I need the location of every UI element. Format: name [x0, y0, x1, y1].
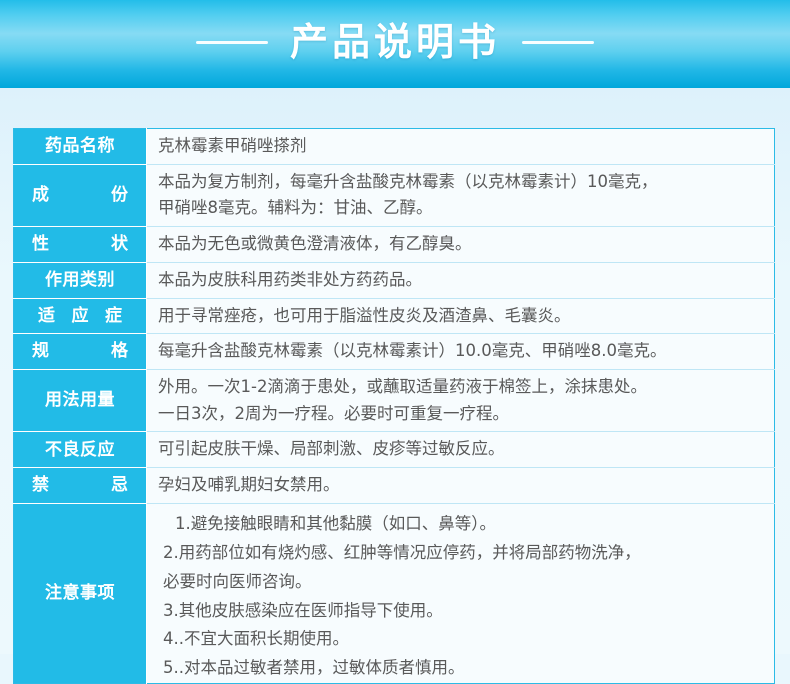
row-label-appearance: 性 状 — [14, 227, 147, 263]
table-row: 性 状 本品为无色或微黄色澄清液体，有乙醇臭。 — [14, 227, 775, 263]
table-row: 药品名称 克林霉素甲硝唑搽剂 — [14, 129, 775, 165]
row-content-drug-category: 本品为皮肤科用药类非处方药药品。 — [147, 262, 775, 298]
label-char: 禁 — [32, 473, 49, 498]
content-line: 本品为无色或微黄色澄清液体，有乙醇臭。 — [158, 231, 766, 258]
row-content-precautions: 1.避免接触眼睛和其他黏膜（如口、鼻等）。 2.用药部位如有烧灼感、红肿等情况应… — [147, 503, 775, 683]
row-label-drug-name: 药品名称 — [14, 129, 147, 165]
row-label-contraindications: 禁 忌 — [14, 468, 147, 504]
row-content-indications: 用于寻常痤疮，也可用于脂溢性皮炎及酒渣鼻、毛囊炎。 — [147, 298, 775, 334]
table-row: 成 份 本品为复方制剂，每毫升含盐酸克林霉素（以克林霉素计）10毫克， 甲硝唑8… — [14, 164, 775, 226]
label-char: 份 — [111, 183, 128, 208]
list-item: 1.避免接触眼睛和其他黏膜（如口、鼻等）。 — [163, 510, 766, 539]
row-content-specification: 每毫升含盐酸克林霉素（以克林霉素计）10.0毫克、甲硝唑8.0毫克。 — [147, 334, 775, 370]
table-row: 禁 忌 孕妇及哺乳期妇女禁用。 — [14, 468, 775, 504]
label-spread: 适 应 症 — [22, 304, 138, 329]
content-line: 本品为复方制剂，每毫升含盐酸克林霉素（以克林霉素计）10毫克， — [158, 169, 766, 196]
content-line: 本品为皮肤科用药类非处方药药品。 — [158, 267, 766, 294]
label-char: 性 — [32, 232, 49, 257]
table-row: 适 应 症 用于寻常痤疮，也可用于脂溢性皮炎及酒渣鼻、毛囊炎。 — [14, 298, 775, 334]
row-label-dosage: 用法用量 — [14, 370, 147, 432]
page-title: 产品说明书 — [290, 23, 500, 61]
content-line: 每毫升含盐酸克林霉素（以克林霉素计）10.0毫克、甲硝唑8.0毫克。 — [158, 338, 766, 365]
table-row: 规 格 每毫升含盐酸克林霉素（以克林霉素计）10.0毫克、甲硝唑8.0毫克。 — [14, 334, 775, 370]
label-char: 忌 — [111, 473, 128, 498]
spec-table-body: 药品名称 克林霉素甲硝唑搽剂 成 份 本品为复方制剂，每毫升含盐酸克林霉素（以克… — [14, 129, 775, 684]
row-content-drug-name: 克林霉素甲硝唑搽剂 — [147, 129, 775, 165]
label-char: 格 — [111, 339, 128, 364]
content-line: 外用。一次1-2滴滴于患处，或蘸取适量药液于棉签上，涂抹患处。 — [158, 374, 766, 401]
row-content-dosage: 外用。一次1-2滴滴于患处，或蘸取适量药液于棉签上，涂抹患处。 一日3次，2周为… — [147, 370, 775, 432]
row-label-specification: 规 格 — [14, 334, 147, 370]
label-char: 适 — [38, 304, 55, 329]
content-line: 孕妇及哺乳期妇女禁用。 — [158, 472, 766, 499]
table-row: 作用类别 本品为皮肤科用药类非处方药药品。 — [14, 262, 775, 298]
list-item: 5..对本品过敏者禁用，过敏体质者慎用。 — [163, 654, 766, 683]
row-content-ingredients: 本品为复方制剂，每毫升含盐酸克林霉素（以克林霉素计）10毫克， 甲硝唑8毫克。辅… — [147, 164, 775, 226]
table-row: 不良反应 可引起皮肤干燥、局部刺激、皮疹等过敏反应。 — [14, 432, 775, 468]
table-row-precautions: 注意事项 1.避免接触眼睛和其他黏膜（如口、鼻等）。 2.用药部位如有烧灼感、红… — [14, 503, 775, 683]
label-char: 成 — [32, 183, 49, 208]
label-char: 应 — [72, 304, 89, 329]
label-char: 状 — [111, 232, 128, 257]
precautions-label-text: 注意事项 — [22, 581, 138, 606]
content-line: 克林霉素甲硝唑搽剂 — [158, 133, 766, 160]
page-header-banner: 产品说明书 — [0, 0, 790, 88]
content-line: 用于寻常痤疮，也可用于脂溢性皮炎及酒渣鼻、毛囊炎。 — [158, 303, 766, 330]
row-label-indications: 适 应 症 — [14, 298, 147, 334]
label-spread: 性 状 — [22, 232, 138, 257]
row-content-contraindications: 孕妇及哺乳期妇女禁用。 — [147, 468, 775, 504]
row-label-ingredients: 成 份 — [14, 164, 147, 226]
list-item: 2.用药部位如有烧灼感、红肿等情况应停药，并将局部药物洗净， — [163, 539, 766, 568]
label-spread: 禁 忌 — [22, 473, 138, 498]
row-label-adverse-reactions: 不良反应 — [14, 432, 147, 468]
list-item: 3.其他皮肤感染应在医师指导下使用。 — [163, 597, 766, 626]
banner-title-group: 产品说明书 — [196, 23, 594, 61]
row-content-adverse-reactions: 可引起皮肤干燥、局部刺激、皮疹等过敏反应。 — [147, 432, 775, 468]
label-spread: 成 份 — [22, 183, 138, 208]
list-item: 4..不宜大面积长期使用。 — [163, 625, 766, 654]
content-line: 甲硝唑8毫克。辅料为：甘油、乙醇。 — [158, 195, 766, 222]
label-char: 症 — [105, 304, 122, 329]
table-row: 用法用量 外用。一次1-2滴滴于患处，或蘸取适量药液于棉签上，涂抹患处。 一日3… — [14, 370, 775, 432]
list-item: 必要时向医师咨询。 — [163, 568, 766, 597]
product-spec-table: 药品名称 克林霉素甲硝唑搽剂 成 份 本品为复方制剂，每毫升含盐酸克林霉素（以克… — [13, 128, 775, 684]
row-label-drug-category: 作用类别 — [14, 262, 147, 298]
row-content-appearance: 本品为无色或微黄色澄清液体，有乙醇臭。 — [147, 227, 775, 263]
page-body: 药品名称 克林霉素甲硝唑搽剂 成 份 本品为复方制剂，每毫升含盐酸克林霉素（以克… — [0, 88, 790, 654]
content-line: 一日3次，2周为一疗程。必要时可重复一疗程。 — [158, 401, 766, 428]
row-label-precautions: 注意事项 — [14, 503, 147, 683]
label-spread: 规 格 — [22, 339, 138, 364]
content-line: 可引起皮肤干燥、局部刺激、皮疹等过敏反应。 — [158, 436, 766, 463]
label-char: 规 — [32, 339, 49, 364]
banner-left-rule — [196, 41, 268, 44]
banner-right-rule — [522, 41, 594, 44]
